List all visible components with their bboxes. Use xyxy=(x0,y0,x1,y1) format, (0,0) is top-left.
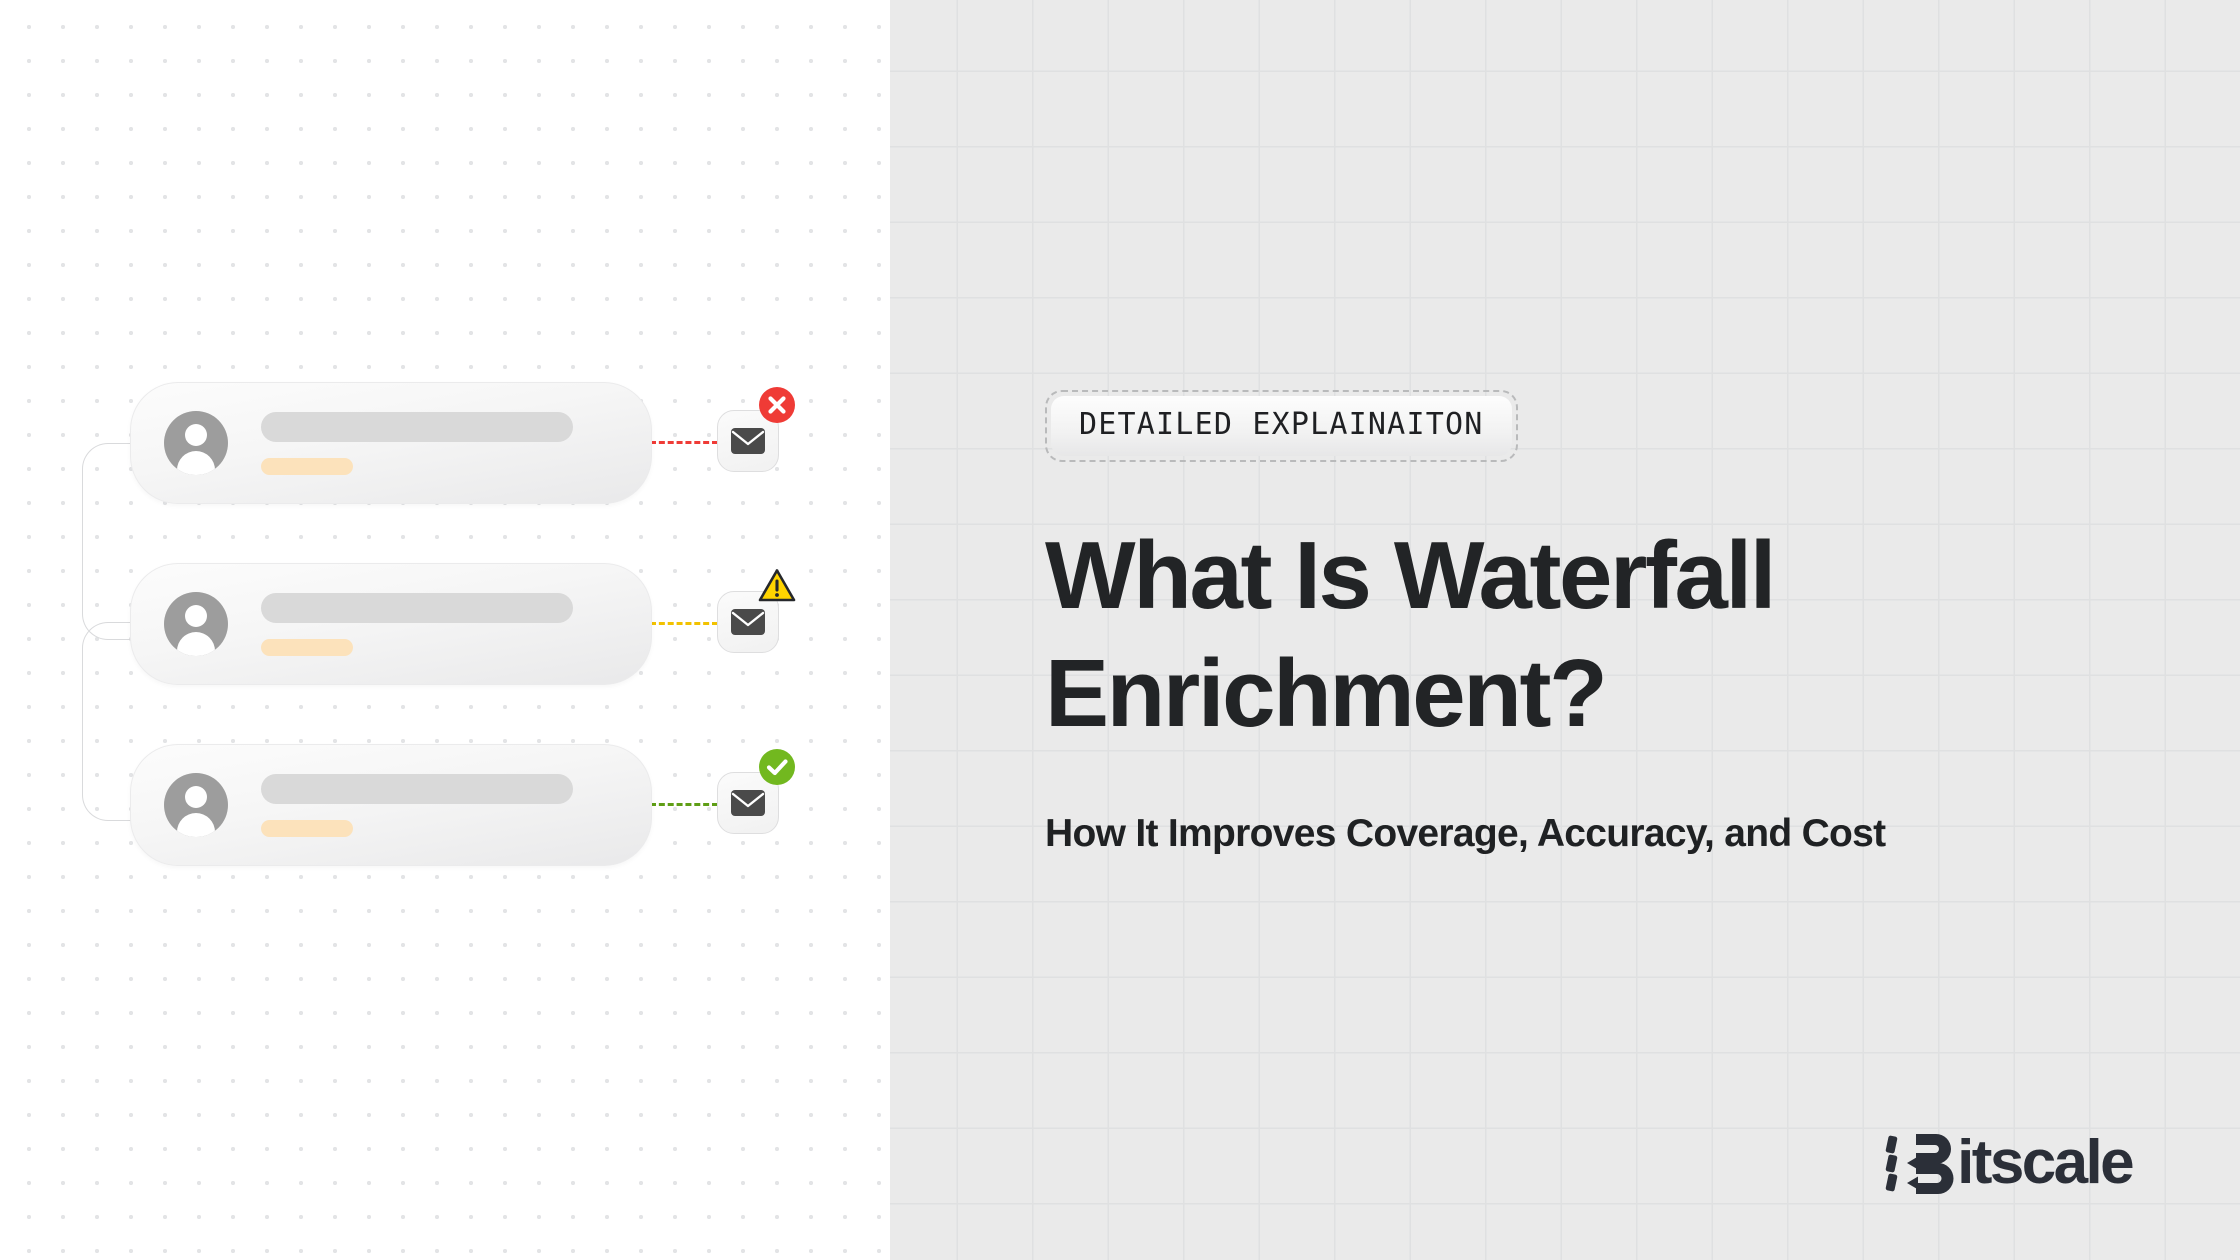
page-title-line-2: Enrichment? xyxy=(1045,646,2165,742)
contact-placeholder-lines xyxy=(261,774,573,837)
slide-canvas: DETAILED EXPLAINAITON What Is Waterfall … xyxy=(0,0,2240,1260)
avatar-body xyxy=(177,813,215,837)
status-badge-1 xyxy=(757,385,797,425)
title-panel: DETAILED EXPLAINAITON What Is Waterfall … xyxy=(890,0,2240,1260)
contact-card-1[interactable] xyxy=(130,382,652,504)
avatar-head xyxy=(185,424,207,446)
bitscale-b-mark-icon xyxy=(1885,1132,1959,1194)
page-subtitle: How It Improves Coverage, Accuracy, and … xyxy=(1045,812,2195,856)
kicker-label: DETAILED EXPLAINAITON xyxy=(1051,396,1512,456)
status-badge-3 xyxy=(757,747,797,787)
contact-meta-placeholder xyxy=(261,820,353,837)
person-avatar-icon xyxy=(164,411,228,475)
contact-name-placeholder xyxy=(261,774,573,804)
circle-check-icon xyxy=(758,748,796,786)
kicker-badge: DETAILED EXPLAINAITON xyxy=(1045,390,1518,462)
avatar-head xyxy=(185,605,207,627)
bitscale-logo: itscale xyxy=(1885,1132,2132,1194)
envelope-icon xyxy=(731,609,765,635)
contact-placeholder-lines xyxy=(261,593,573,656)
contact-name-placeholder xyxy=(261,593,573,623)
warning-triangle-icon xyxy=(757,567,797,605)
status-badge-2 xyxy=(757,566,797,606)
page-title-line-1: What Is Waterfall xyxy=(1045,522,1774,629)
contact-meta-placeholder xyxy=(261,639,353,656)
bitscale-wordmark: itscale xyxy=(1957,1132,2132,1194)
contact-placeholder-lines xyxy=(261,412,573,475)
envelope-icon xyxy=(731,790,765,816)
enrichment-row-1 xyxy=(130,382,810,504)
contact-meta-placeholder xyxy=(261,458,353,475)
connector-line-2 xyxy=(650,622,718,625)
avatar-body xyxy=(177,451,215,475)
enrichment-row-3 xyxy=(130,744,810,866)
avatar-body xyxy=(177,632,215,656)
circle-x-icon xyxy=(758,386,796,424)
person-avatar-icon xyxy=(164,773,228,837)
contact-card-2[interactable] xyxy=(130,563,652,685)
enrichment-diagram-panel xyxy=(0,0,890,1260)
envelope-icon xyxy=(731,428,765,454)
person-avatar-icon xyxy=(164,592,228,656)
connector-line-3 xyxy=(650,803,718,806)
contact-name-placeholder xyxy=(261,412,573,442)
contact-card-3[interactable] xyxy=(130,744,652,866)
avatar-head xyxy=(185,786,207,808)
connector-line-1 xyxy=(650,441,718,444)
enrichment-row-2 xyxy=(130,563,810,685)
page-title: What Is Waterfall Enrichment? xyxy=(1045,528,2165,742)
